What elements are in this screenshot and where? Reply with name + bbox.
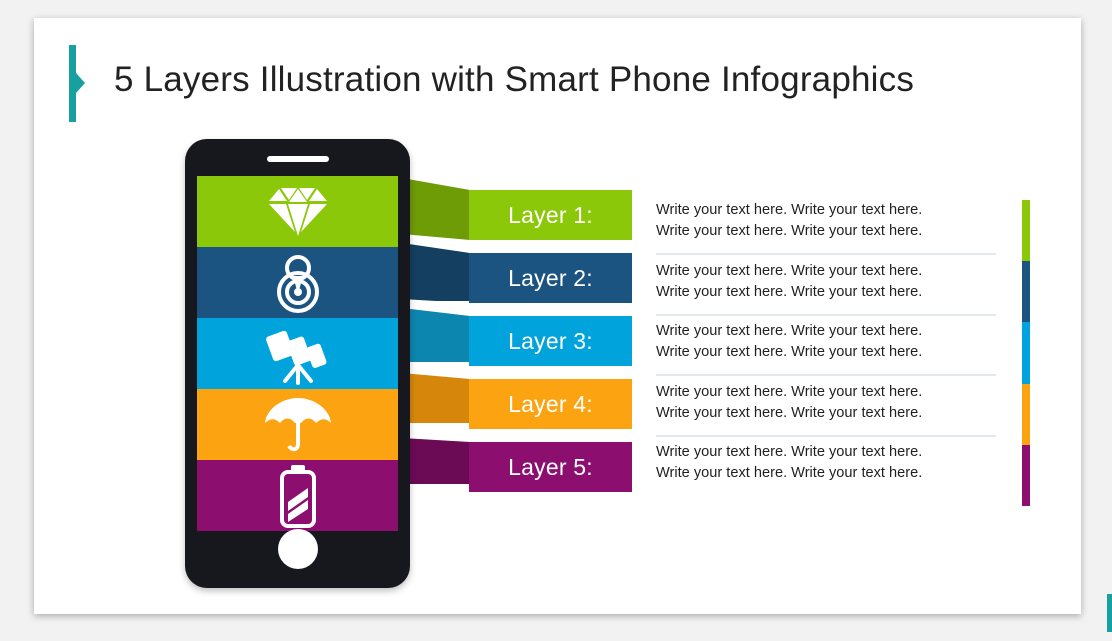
layer-label-text: Layer 4: [508,391,593,418]
layer-description-2: Write your text here. Write your text he… [656,261,996,309]
layer-label-plate: Layer 3: [469,316,632,366]
description-divider [656,374,996,376]
description-line: Write your text here. Write your text he… [656,463,996,484]
description-line: Write your text here. Write your text he… [656,403,996,424]
layer-ribbon-1[interactable]: Layer 1: [402,178,632,240]
description-line: Write your text here. Write your text he… [656,200,996,221]
phone-home-button[interactable] [278,529,318,569]
color-legend-segment-4 [1022,384,1030,445]
description-line: Write your text here. Write your text he… [656,321,996,342]
phone-screen-band-3 [197,318,398,389]
layer-ribbon-group: Layer 1:Layer 2:Layer 3:Layer 4:Layer 5: [402,178,632,514]
layer-ribbon-2[interactable]: Layer 2: [402,239,632,301]
phone-screen [197,176,398,531]
description-divider [656,253,996,255]
slide-canvas: 5 Layers Illustration with Smart Phone I… [34,18,1081,614]
layer-label-text: Layer 5: [508,454,593,481]
slide-root: 5 Layers Illustration with Smart Phone I… [0,0,1112,641]
phone-screen-band-2 [197,247,398,318]
layer-description-5: Write your text here. Write your text he… [656,442,996,490]
layer-label-text: Layer 3: [508,328,593,355]
description-line: Write your text here. Write your text he… [656,282,996,303]
phone-screen-band-5 [197,460,398,531]
ribbon-fold-panel [402,178,470,240]
umbrella-icon [263,396,333,454]
layer-ribbon-5[interactable]: Layer 5: [402,422,632,484]
description-divider [656,314,996,316]
accent-bar-left [69,45,76,122]
layer-description-4: Write your text here. Write your text he… [656,382,996,430]
layer-ribbon-3[interactable]: Layer 3: [402,300,632,362]
layer-ribbon-4[interactable]: Layer 4: [402,361,632,423]
battery-icon [276,464,320,528]
phone-screen-band-1 [197,176,398,247]
description-line: Write your text here. Write your text he… [656,261,996,282]
color-legend-strip [1022,200,1030,506]
location-pin-radar-icon [267,252,329,314]
smart-phone-mockup [185,139,410,588]
ribbon-fold-panel [402,239,470,301]
description-divider [656,435,996,437]
layer-label-text: Layer 1: [508,202,593,229]
layer-description-3: Write your text here. Write your text he… [656,321,996,369]
layer-label-plate: Layer 2: [469,253,632,303]
description-line: Write your text here. Write your text he… [656,221,996,242]
color-legend-segment-2 [1022,261,1030,322]
ribbon-fold-panel [402,300,470,362]
description-line: Write your text here. Write your text he… [656,342,996,363]
page-title: 5 Layers Illustration with Smart Phone I… [114,60,914,100]
color-legend-segment-5 [1022,445,1030,506]
color-legend-segment-3 [1022,322,1030,383]
layer-description-column: Write your text here. Write your text he… [656,200,996,510]
accent-bar-bottom-right [1107,594,1112,632]
layer-label-plate: Layer 5: [469,442,632,492]
layer-label-plate: Layer 1: [469,190,632,240]
ribbon-fold-panel [402,422,470,484]
diamond-icon [267,186,329,238]
layer-label-text: Layer 2: [508,265,593,292]
phone-speaker-bar [267,156,329,162]
description-line: Write your text here. Write your text he… [656,442,996,463]
layer-description-1: Write your text here. Write your text he… [656,200,996,248]
color-legend-segment-1 [1022,200,1030,261]
telescope-icon [265,323,331,385]
description-line: Write your text here. Write your text he… [656,382,996,403]
ribbon-fold-panel [402,361,470,423]
phone-screen-band-4 [197,389,398,460]
accent-chevron-icon [76,73,85,93]
